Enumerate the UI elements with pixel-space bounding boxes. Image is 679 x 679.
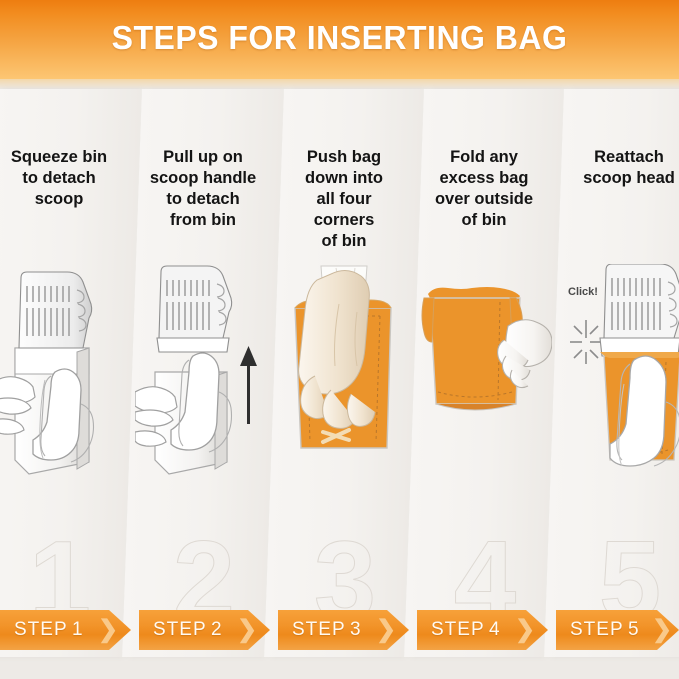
steps-stage: Squeeze bin to detach scoop (0, 89, 679, 679)
click-annotation: Click! (568, 286, 598, 298)
step-banner-label: STEP (153, 619, 207, 641)
step-illustration-4 (414, 264, 554, 554)
caption-line: of bin (280, 231, 408, 252)
step-panel-2: Pull up on scoop handle to detach from b… (122, 89, 284, 657)
step-banner-number: 2 (211, 619, 223, 641)
step-banner-3[interactable]: STEP 3 ❯ (278, 610, 409, 650)
step-caption-2: Pull up on scoop handle to detach from b… (132, 147, 274, 231)
infographic-page: STEPS FOR INSERTING BAG Squeeze bin to d… (0, 0, 679, 679)
step-illustration-3 (274, 264, 414, 554)
caption-line: Reattach (560, 147, 679, 168)
caption-line: down into (280, 168, 408, 189)
caption-line: Fold any (420, 147, 548, 168)
step-banner-number: 3 (350, 619, 362, 641)
step-banner-label: STEP (292, 619, 346, 641)
step-banner-number: 5 (628, 619, 640, 641)
chevron-right-icon: ❯ (237, 615, 258, 644)
page-title: STEPS FOR INSERTING BAG (10, 19, 669, 57)
chevron-right-icon: ❯ (652, 615, 673, 644)
caption-line: to detach (0, 168, 126, 189)
step-banner-label: STEP (570, 619, 624, 641)
step-banner-number: 4 (489, 619, 501, 641)
caption-line: excess bag (420, 168, 548, 189)
caption-line: Push bag (280, 147, 408, 168)
click-spark-icon (570, 320, 602, 364)
caption-line: scoop handle (138, 168, 268, 189)
header-fade-divider (0, 79, 679, 89)
step-banner-label: STEP (431, 619, 485, 641)
step-illustration-1 (0, 264, 132, 554)
caption-line: of bin (420, 210, 548, 231)
caption-line: Pull up on (138, 147, 268, 168)
chevron-right-icon: ❯ (98, 615, 119, 644)
step-illustration-5: Click! (554, 264, 679, 554)
chevron-right-icon: ❯ (376, 615, 397, 644)
caption-line: over outside (420, 189, 548, 210)
step-illustration-2 (132, 264, 274, 554)
caption-line: to detach (138, 189, 268, 210)
step-caption-3: Push bag down into all four corners of b… (274, 147, 414, 252)
step-banner-1[interactable]: STEP 1 ❯ (0, 610, 131, 650)
step-banner-number: 1 (72, 619, 84, 641)
step-banner-label: STEP (14, 619, 68, 641)
step-banner-5[interactable]: STEP 5 ❯ (556, 610, 679, 650)
header-banner: STEPS FOR INSERTING BAG (0, 0, 679, 79)
step-panel-4: Fold any excess bag over outside of bin (404, 89, 564, 657)
caption-line: from bin (138, 210, 268, 231)
step-panel-3: Push bag down into all four corners of b… (264, 89, 424, 657)
step-banner-row: STEP 1 ❯ STEP 2 ❯ STEP 3 ❯ STEP 4 ❯ STEP… (0, 610, 679, 652)
step-caption-4: Fold any excess bag over outside of bin (414, 147, 554, 231)
caption-line: scoop head (560, 168, 679, 189)
caption-line: scoop (0, 189, 126, 210)
chevron-right-icon: ❯ (515, 615, 536, 644)
step-caption-1: Squeeze bin to detach scoop (0, 147, 132, 210)
step-banner-4[interactable]: STEP 4 ❯ (417, 610, 548, 650)
step-banner-2[interactable]: STEP 2 ❯ (139, 610, 270, 650)
caption-line: corners (280, 210, 408, 231)
step-panel-1: Squeeze bin to detach scoop (0, 89, 142, 657)
step-caption-5: Reattach scoop head (554, 147, 679, 189)
caption-line: Squeeze bin (0, 147, 126, 168)
step-panel-5: Reattach scoop head (544, 89, 679, 657)
caption-line: all four (280, 189, 408, 210)
